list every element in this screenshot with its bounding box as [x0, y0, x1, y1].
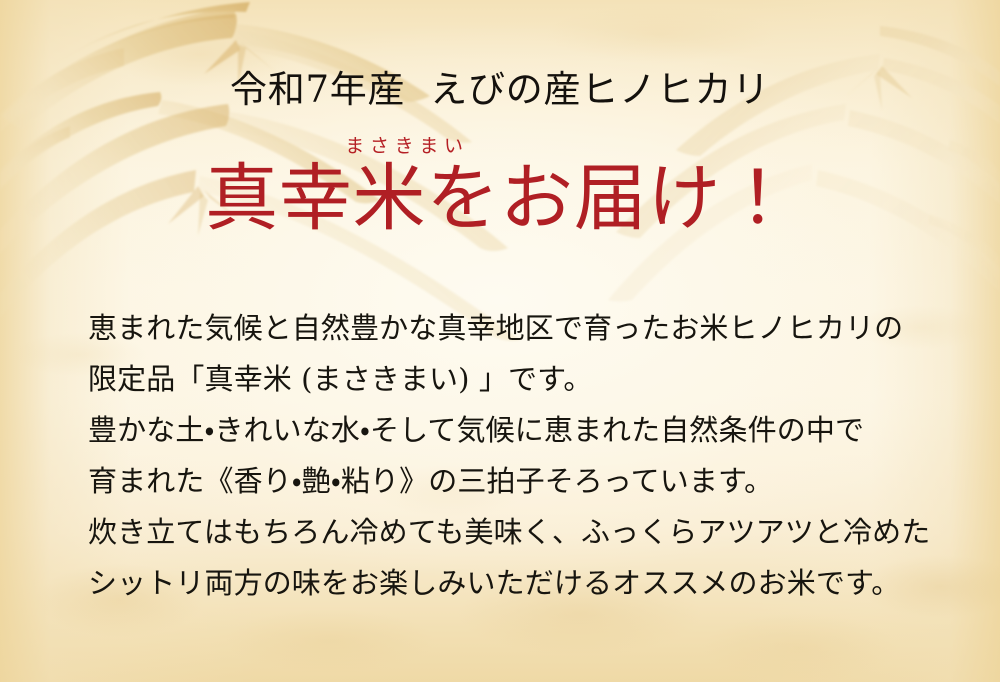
title-block: まさきまい 真幸米をお届け！: [0, 137, 1000, 235]
body-line: 恵まれた気候と自然豊かな真幸地区で育ったお米ヒノヒカリの: [88, 303, 924, 354]
rice-product-poster: 令和7年産 えびの産ヒノヒカリ まさきまい 真幸米をお届け！ 恵まれた気候と自然…: [0, 0, 1000, 682]
title-ruby-reading: まさきまい: [0, 137, 1000, 156]
body-line: シットリ両方の味をお楽しみいただけるオススメのお米です。: [88, 558, 924, 609]
poster-content: 令和7年産 えびの産ヒノヒカリ まさきまい 真幸米をお届け！ 恵まれた気候と自然…: [0, 0, 1000, 682]
page-title: 真幸米をお届け！: [0, 162, 1000, 235]
body-line: 豊かな土・きれいな水・そして気候に恵まれた自然条件の中で: [88, 405, 924, 456]
body-line: 限定品「真幸米 (まさきまい) 」です。: [88, 354, 924, 405]
body-line: 炊き立てはもちろん冷めても美味く、ふっくらアツアツと冷めた: [88, 507, 924, 558]
body-line: 育まれた《香り・艶・粘り》の三拍子そろっています。: [88, 456, 924, 507]
page-headline: 令和7年産 えびの産ヒノヒカリ: [0, 69, 1000, 112]
description-body: 恵まれた気候と自然豊かな真幸地区で育ったお米ヒノヒカリの 限定品「真幸米 (まさ…: [88, 303, 924, 609]
